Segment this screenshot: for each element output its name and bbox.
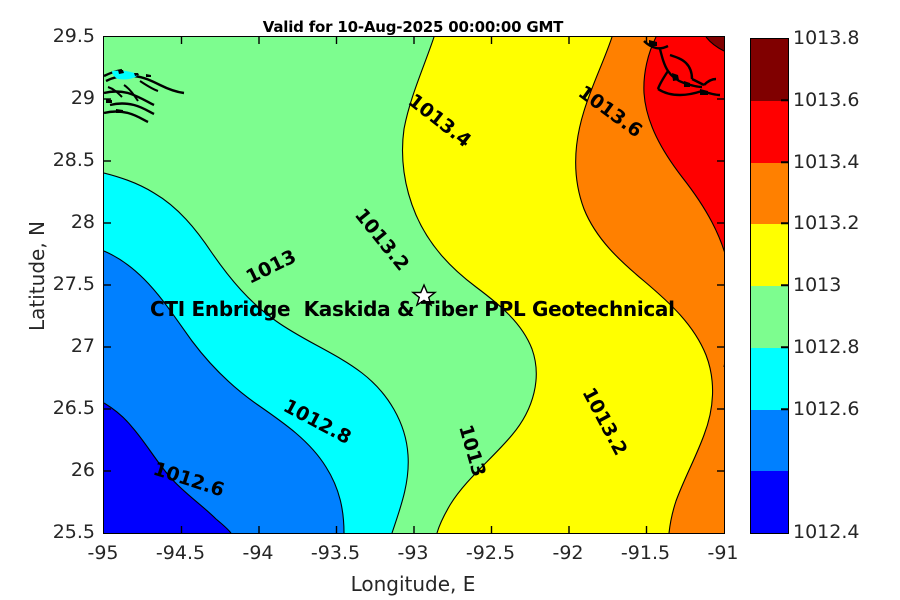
colorbar-tick-6: 1013.6 (793, 89, 859, 111)
y-tick-1: 26 (71, 459, 95, 481)
x-tick-2: -94 (242, 542, 273, 564)
colorbar-tick-labels: 1012.4 1012.6 1012.8 1013 1013.2 1013.4 … (793, 38, 893, 532)
y-tick-0: 25.5 (53, 521, 95, 543)
page-title: Valid for 10-Aug-2025 00:00:00 GMT (103, 18, 723, 36)
x-tick-7: -91.5 (621, 542, 670, 564)
site-annotation-label: CTI Enbridge Kaskida & Tiber PPL Geotech… (150, 297, 675, 321)
y-tick-4: 27.5 (53, 273, 95, 295)
x-tick-0: -95 (87, 542, 118, 564)
figure-canvas: Valid for 10-Aug-2025 00:00:00 GMT 25.5 … (0, 0, 900, 600)
colorbar-tickmark-1012p6 (781, 408, 788, 410)
x-tick-3: -93.5 (311, 542, 360, 564)
colorbar (750, 38, 789, 534)
colorbar-tick-5: 1013.4 (793, 151, 859, 173)
colorbar-tick-3: 1013 (793, 274, 841, 296)
colorbar-tick-2: 1012.8 (793, 336, 859, 358)
colorbar-tick-1: 1012.6 (793, 398, 859, 420)
colorbar-tick-0: 1012.4 (793, 521, 859, 543)
colorbar-band-1013p4 (751, 163, 788, 225)
y-tick-3: 27 (71, 335, 95, 357)
x-tick-4: -93 (397, 542, 428, 564)
x-tick-1: -94.5 (156, 542, 205, 564)
x-tick-5: -92.5 (466, 542, 515, 564)
colorbar-tickmark-1013p4 (781, 161, 788, 163)
x-tick-6: -92 (552, 542, 583, 564)
y-tick-8: 29.5 (53, 25, 95, 47)
colorbar-band-1012p6 (751, 410, 788, 472)
colorbar-tickmark-1013p6 (781, 99, 788, 101)
colorbar-band-1013p6 (751, 101, 788, 163)
x-axis-label: Longitude, E (103, 572, 723, 596)
colorbar-tick-4: 1013.2 (793, 212, 859, 234)
colorbar-band-1013 (751, 286, 788, 348)
colorbar-band-1013p8 (751, 39, 788, 101)
colorbar-tick-7: 1013.8 (793, 27, 859, 49)
y-tick-7: 29 (71, 87, 95, 109)
colorbar-tickmark-1012p8 (781, 346, 788, 348)
y-tick-5: 28 (71, 211, 95, 233)
y-tick-2: 26.5 (53, 397, 95, 419)
colorbar-band-1012p4 (751, 471, 788, 533)
colorbar-tickmark-1013 (781, 284, 788, 286)
y-tick-6: 28.5 (53, 149, 95, 171)
contour-svg: 1012.6 1012.8 1013 1013 1013.2 1013.2 10… (104, 37, 724, 533)
x-tick-8: -91 (707, 542, 738, 564)
x-axis-ticks: -95 -94.5 -94 -93.5 -93 -92.5 -92 -91.5 … (103, 542, 723, 568)
y-axis-label: Latitude, N (25, 146, 49, 406)
colorbar-band-1013p2 (751, 224, 788, 286)
colorbar-tickmark-1013p2 (781, 222, 788, 224)
contour-plot: 1012.6 1012.8 1013 1013 1013.2 1013.2 10… (103, 36, 725, 534)
colorbar-band-1012p8 (751, 348, 788, 410)
